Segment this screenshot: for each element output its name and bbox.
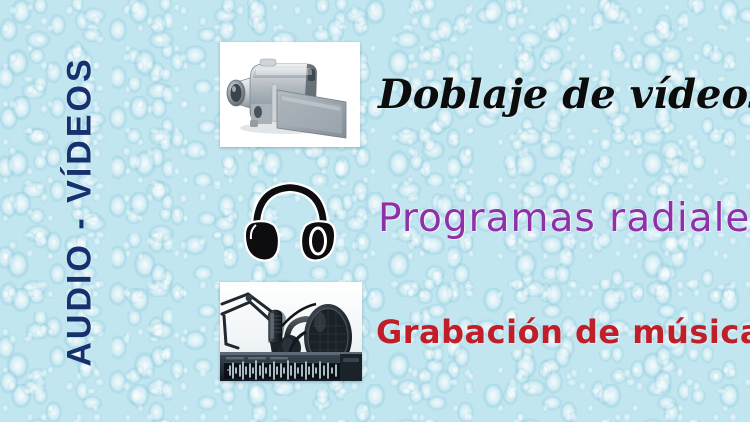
caption-doblaje-de-videos: Doblaje de vídeos xyxy=(378,71,750,118)
row-video: Doblaje de vídeos xyxy=(220,42,750,147)
caption-programas-radiales: Programas radiales xyxy=(378,196,750,241)
studio-microphone-photo xyxy=(220,282,362,381)
camcorder-photo xyxy=(220,42,360,147)
caption-grabacion-de-musica: Grabación de música xyxy=(376,313,750,351)
row-music: Grabación de música xyxy=(220,282,750,381)
slide-canvas: AUDIO - VÍDEOS xyxy=(0,0,750,422)
row-radio: Programas radiales xyxy=(220,168,750,268)
headphones-icon xyxy=(240,168,340,268)
